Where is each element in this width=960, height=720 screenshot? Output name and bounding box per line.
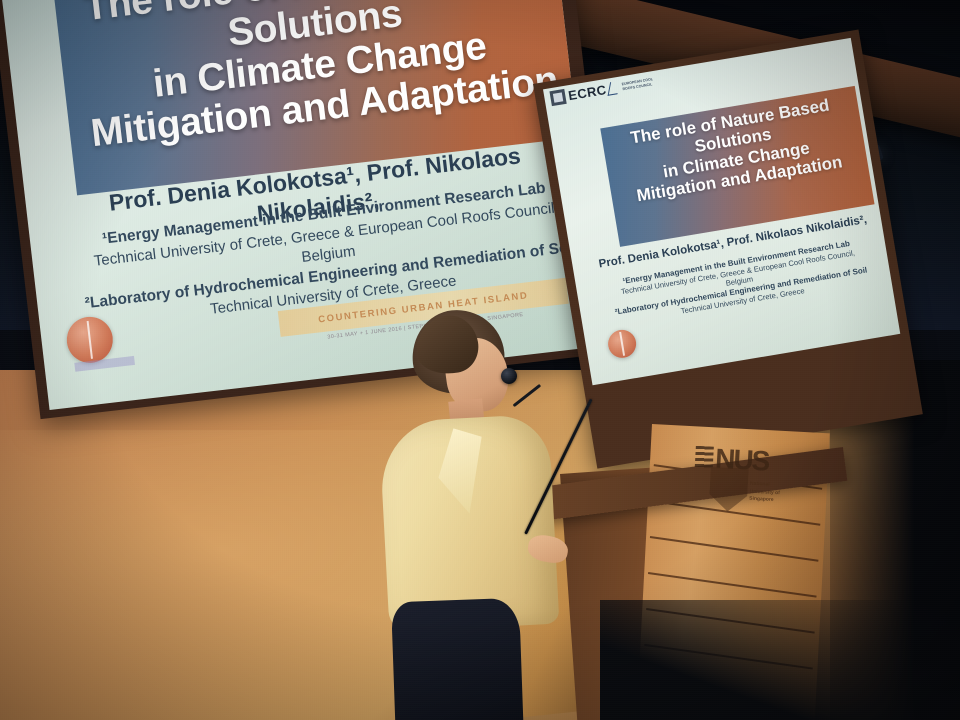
ecrc-wordmark: ECRC (567, 82, 607, 103)
nus-bars-icon (695, 446, 714, 469)
secondary-projection-screen: ECRC EUROPEAN COOL ROOFS COUNCIL The rol… (533, 30, 923, 469)
speaker (376, 300, 556, 720)
ecrc-emblem-icon (549, 89, 566, 106)
ecrc-check-icon (608, 81, 620, 96)
photo-scene: The role of Nature Based Solutions in Cl… (0, 0, 960, 720)
speaker-trousers (391, 598, 525, 720)
conference-logo-icon (61, 314, 118, 366)
ecrc-subtitle: EUROPEAN COOL ROOFS COUNCIL (621, 75, 664, 91)
nus-shield-icon (709, 467, 749, 513)
microphone-capsule-icon (501, 368, 517, 384)
secondary-slide: ECRC EUROPEAN COOL ROOFS COUNCIL The rol… (543, 38, 900, 385)
secondary-conference-logo-icon (606, 327, 640, 360)
corner-shadow (600, 600, 960, 720)
nus-tagline: National University of Singapore (749, 481, 784, 505)
ecrc-logo-icon: ECRC EUROPEAN COOL ROOFS COUNCIL (549, 72, 664, 106)
nus-logo-icon: NUS National University of Singapore (692, 442, 782, 524)
